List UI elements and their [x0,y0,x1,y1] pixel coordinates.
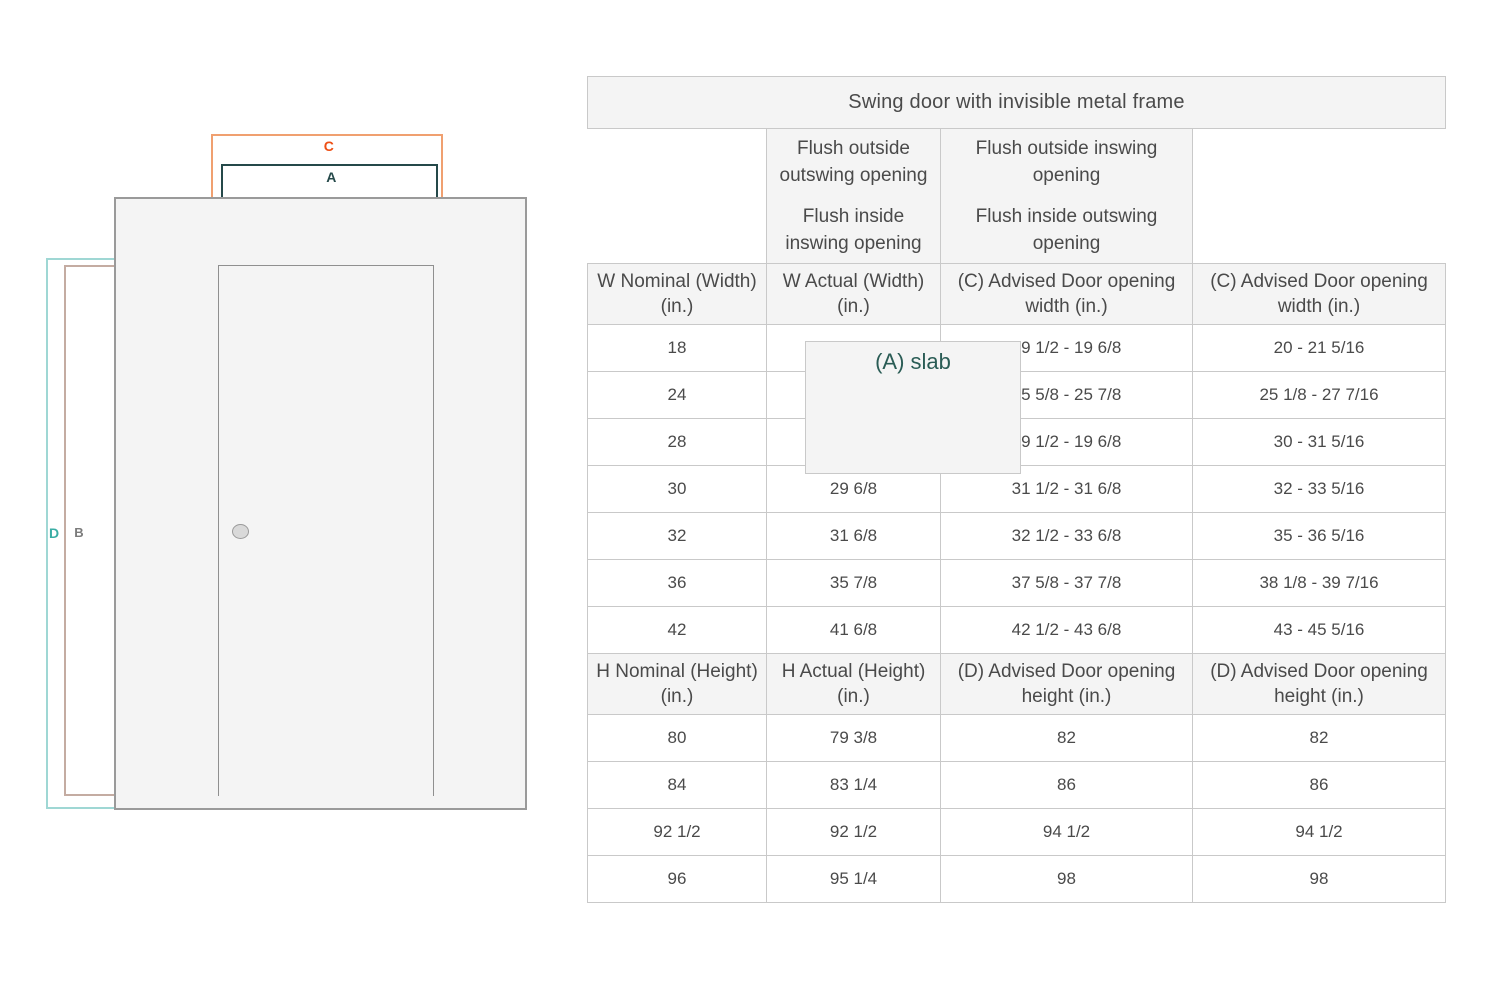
door-knob-icon [232,524,249,539]
height-header-row: H Nominal (Height) (in.) H Actual (Heigh… [588,654,1446,715]
cell-w-nominal: 28 [588,419,767,466]
cell-h-inswing: 98 [1193,856,1446,903]
group-header-inswing-line1: Flush outside inswing opening [951,135,1182,189]
cell-h-actual: 95 1/4 [767,856,941,903]
group-header-outswing-line2: Flush inside inswing opening [777,203,930,257]
cell-w-actual: 31 6/8 [767,513,941,560]
cell-h-outswing: 94 1/2 [941,809,1193,856]
cell-w-nominal: 36 [588,560,767,607]
table-row: 36 35 7/8 37 5/8 - 37 7/8 38 1/8 - 39 7/… [588,560,1446,607]
height-header-advised-inswing: (D) Advised Door opening height (in.) [1193,654,1446,715]
width-header-advised-inswing: (C) Advised Door opening width (in.) [1193,264,1446,325]
cell-h-nominal: 92 1/2 [588,809,767,856]
cell-h-inswing: 86 [1193,762,1446,809]
cell-w-inswing: 25 1/8 - 27 7/16 [1193,372,1446,419]
door-diagram: C A D B [0,0,570,1000]
cell-w-inswing: 32 - 33 5/16 [1193,466,1446,513]
cell-w-nominal: 42 [588,607,767,654]
cell-h-nominal: 84 [588,762,767,809]
width-header-nominal: W Nominal (Width) (in.) [588,264,767,325]
cell-w-inswing: 30 - 31 5/16 [1193,419,1446,466]
height-header-nominal: H Nominal (Height) (in.) [588,654,767,715]
width-header-row: W Nominal (Width) (in.) W Actual (Width)… [588,264,1446,325]
table-title-row: Swing door with invisible metal frame [588,77,1446,129]
cell-w-outswing: 37 5/8 - 37 7/8 [941,560,1193,607]
table-row: 92 1/2 92 1/2 94 1/2 94 1/2 [588,809,1446,856]
page-root: C A D B Swing door with invisible metal [0,0,1501,1000]
cell-w-inswing: 38 1/8 - 39 7/16 [1193,560,1446,607]
cell-w-nominal: 32 [588,513,767,560]
cell-h-outswing: 86 [941,762,1193,809]
cell-w-nominal: 24 [588,372,767,419]
group-header-outswing: Flush outside outswing opening Flush ins… [767,129,941,264]
cell-w-actual: 41 6/8 [767,607,941,654]
cell-w-inswing: 35 - 36 5/16 [1193,513,1446,560]
dimension-label-a: A [223,167,440,187]
cell-w-actual: 35 7/8 [767,560,941,607]
cell-h-inswing: 94 1/2 [1193,809,1446,856]
spec-table: Swing door with invisible metal frame (A… [587,76,1446,903]
dimension-label-b: B [71,525,87,541]
table-row: 80 79 3/8 82 82 [588,715,1446,762]
dimension-label-c: C [213,136,445,156]
table-row: 96 95 1/4 98 98 [588,856,1446,903]
group-header-slab-text: (A) slab [875,349,951,374]
group-header-inswing: Flush outside inswing opening Flush insi… [941,129,1193,264]
cell-h-actual: 83 1/4 [767,762,941,809]
height-header-actual: H Actual (Height) (in.) [767,654,941,715]
table-row: 42 41 6/8 42 1/2 - 43 6/8 43 - 45 5/16 [588,607,1446,654]
width-header-actual: W Actual (Width) (in.) [767,264,941,325]
dimension-bracket-a: A [221,164,438,200]
group-header-inswing-line2: Flush inside outswing opening [951,203,1182,257]
door-slab [218,265,434,796]
group-header-outswing-line1: Flush outside outswing opening [777,135,930,189]
cell-w-nominal: 30 [588,466,767,513]
cell-h-nominal: 96 [588,856,767,903]
table-row: 84 83 1/4 86 86 [588,762,1446,809]
cell-w-inswing: 20 - 21 5/16 [1193,325,1446,372]
spec-table-container: Swing door with invisible metal frame (A… [587,76,1445,903]
cell-w-nominal: 18 [588,325,767,372]
cell-h-inswing: 82 [1193,715,1446,762]
table-title: Swing door with invisible metal frame [588,77,1446,129]
cell-h-outswing: 82 [941,715,1193,762]
width-header-advised-outswing: (C) Advised Door opening width (in.) [941,264,1193,325]
cell-w-inswing: 43 - 45 5/16 [1193,607,1446,654]
cell-h-actual: 79 3/8 [767,715,941,762]
cell-w-outswing: 32 1/2 - 33 6/8 [941,513,1193,560]
dimension-label-d: D [46,525,62,541]
height-header-advised-outswing: (D) Advised Door opening height (in.) [941,654,1193,715]
group-header-slab: (A) slab [805,341,1021,474]
cell-h-outswing: 98 [941,856,1193,903]
cell-h-nominal: 80 [588,715,767,762]
cell-h-actual: 92 1/2 [767,809,941,856]
table-row: 32 31 6/8 32 1/2 - 33 6/8 35 - 36 5/16 [588,513,1446,560]
table-group-header-row: (A) slab Flush outside outswing opening … [588,129,1446,264]
cell-w-outswing: 42 1/2 - 43 6/8 [941,607,1193,654]
